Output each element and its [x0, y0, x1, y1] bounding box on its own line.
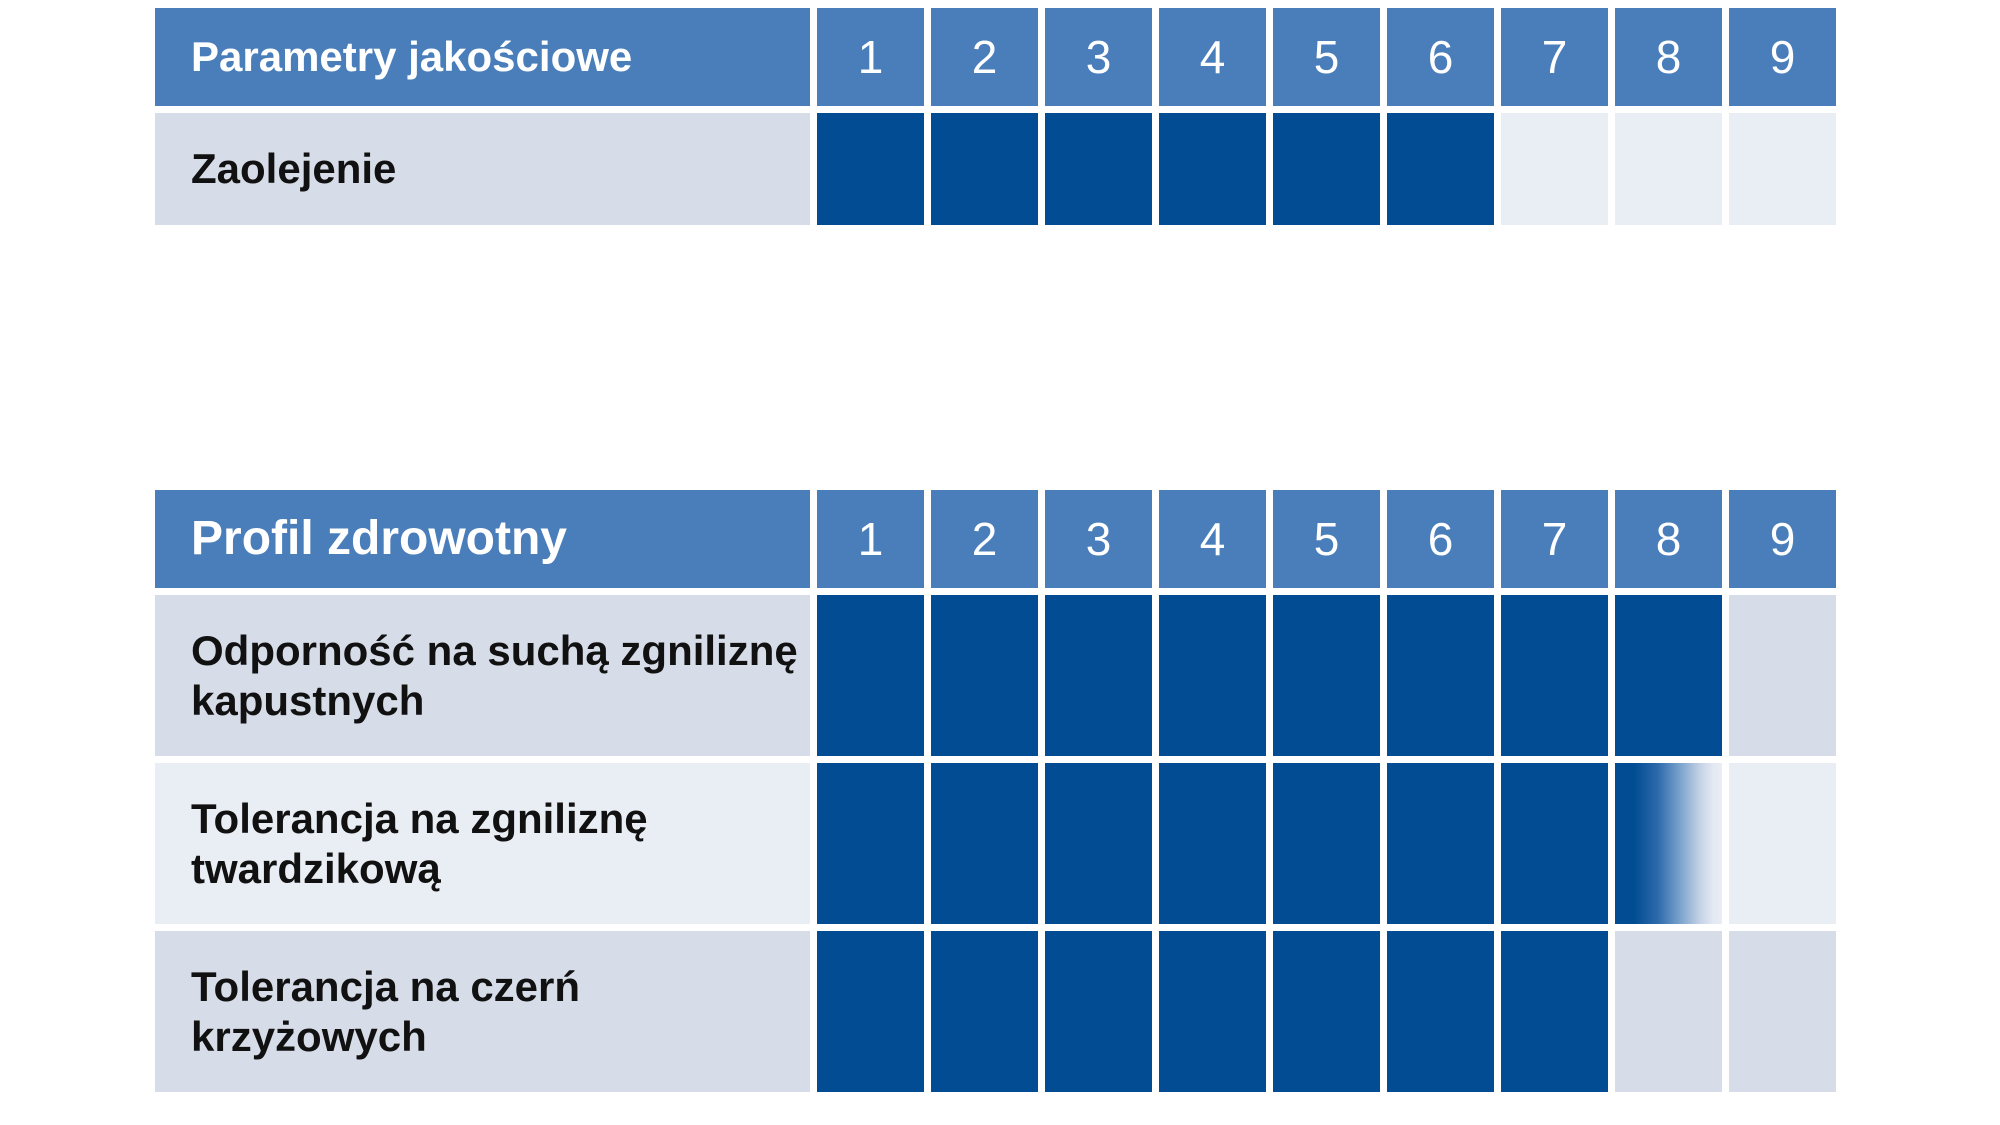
column-gutter — [1152, 113, 1159, 225]
rating-cell-9 — [1729, 931, 1836, 1092]
column-gutter — [924, 763, 931, 924]
rating-cell-1 — [817, 113, 924, 225]
rating-cell-2 — [931, 113, 1038, 225]
rating-cell-2 — [931, 595, 1038, 756]
rating-cell-6 — [1387, 595, 1494, 756]
row-gutter — [155, 924, 1845, 931]
column-gutter — [1722, 490, 1729, 588]
quality-scale-header-9: 9 — [1729, 8, 1836, 106]
column-gutter — [1494, 8, 1501, 106]
column-gutter — [1152, 595, 1159, 756]
rating-cell-5 — [1273, 113, 1380, 225]
rating-cell-8 — [1615, 595, 1722, 756]
column-gutter — [810, 763, 817, 924]
rating-cell-9 — [1729, 763, 1836, 924]
quality-parameters-table: Parametry jakościowe 1 2 3 4 5 6 7 8 9 Z… — [155, 8, 1845, 225]
quality-scale-header-6: 6 — [1387, 8, 1494, 106]
column-gutter — [1380, 490, 1387, 588]
rating-cell-9 — [1729, 113, 1836, 225]
quality-scale-header-2: 2 — [931, 8, 1038, 106]
quality-table-title: Parametry jakościowe — [155, 8, 810, 106]
table-row: Zaolejenie — [155, 113, 1845, 225]
column-gutter — [1722, 595, 1729, 756]
quality-scale-header-8: 8 — [1615, 8, 1722, 106]
quality-scale-header-3: 3 — [1045, 8, 1152, 106]
quality-row-label-zaolejenie: Zaolejenie — [155, 113, 810, 225]
quality-table-header-row: Parametry jakościowe 1 2 3 4 5 6 7 8 9 — [155, 8, 1845, 106]
quality-scale-header-1: 1 — [817, 8, 924, 106]
column-gutter — [924, 595, 931, 756]
column-gutter — [1266, 595, 1273, 756]
rating-cell-1 — [817, 763, 924, 924]
column-gutter — [1152, 931, 1159, 1092]
column-gutter — [1608, 113, 1615, 225]
rating-cell-3 — [1045, 595, 1152, 756]
column-gutter — [1722, 8, 1729, 106]
column-gutter — [1380, 931, 1387, 1092]
column-gutter — [1380, 8, 1387, 106]
rating-cell-6 — [1387, 763, 1494, 924]
rating-cell-8 — [1615, 113, 1722, 225]
column-gutter — [1038, 8, 1045, 106]
column-gutter — [1494, 763, 1501, 924]
health-profile-table: Profil zdrowotny 1 2 3 4 5 6 7 8 9 Odpor… — [155, 490, 1845, 1092]
table-row: Tolerancja na zgniliznę twardzikową — [155, 763, 1845, 924]
quality-scale-header-7: 7 — [1501, 8, 1608, 106]
health-scale-header-2: 2 — [931, 490, 1038, 588]
rating-cell-7 — [1501, 931, 1608, 1092]
row-gutter — [155, 588, 1845, 595]
quality-scale-header-5: 5 — [1273, 8, 1380, 106]
column-gutter — [1608, 763, 1615, 924]
slide-canvas: Parametry jakościowe 1 2 3 4 5 6 7 8 9 Z… — [0, 0, 2000, 1125]
column-gutter — [1038, 113, 1045, 225]
column-gutter — [1380, 763, 1387, 924]
health-table-title: Profil zdrowotny — [155, 490, 810, 588]
column-gutter — [1608, 595, 1615, 756]
column-gutter — [1608, 8, 1615, 106]
rating-cell-8 — [1615, 931, 1722, 1092]
rating-cell-4 — [1159, 931, 1266, 1092]
table-row: Odporność na suchą zgniliznę kapustnych — [155, 595, 1845, 756]
column-gutter — [1380, 595, 1387, 756]
column-gutter — [1152, 763, 1159, 924]
column-gutter — [1608, 931, 1615, 1092]
health-scale-header-9: 9 — [1729, 490, 1836, 588]
column-gutter — [1494, 490, 1501, 588]
column-gutter — [1722, 763, 1729, 924]
column-gutter — [1038, 931, 1045, 1092]
rating-cell-7 — [1501, 113, 1608, 225]
health-scale-header-8: 8 — [1615, 490, 1722, 588]
column-gutter — [1494, 595, 1501, 756]
health-row-label-sclerotinia-tolerance: Tolerancja na zgniliznę twardzikową — [155, 763, 810, 924]
column-gutter — [924, 490, 931, 588]
column-gutter — [810, 490, 817, 588]
column-gutter — [1494, 931, 1501, 1092]
column-gutter — [1722, 931, 1729, 1092]
rating-cell-4 — [1159, 763, 1266, 924]
health-scale-header-3: 3 — [1045, 490, 1152, 588]
column-gutter — [1608, 490, 1615, 588]
column-gutter — [1038, 595, 1045, 756]
rating-cell-6 — [1387, 113, 1494, 225]
table-row: Tolerancja na czerń krzyżowych — [155, 931, 1845, 1092]
column-gutter — [1266, 113, 1273, 225]
column-gutter — [924, 931, 931, 1092]
health-scale-header-5: 5 — [1273, 490, 1380, 588]
health-scale-header-6: 6 — [1387, 490, 1494, 588]
column-gutter — [1266, 931, 1273, 1092]
rating-cell-1 — [817, 931, 924, 1092]
column-gutter — [1494, 113, 1501, 225]
health-row-label-dry-rot-resistance: Odporność na suchą zgniliznę kapustnych — [155, 595, 810, 756]
row-gutter — [155, 106, 1845, 113]
quality-scale-header-4: 4 — [1159, 8, 1266, 106]
column-gutter — [924, 113, 931, 225]
column-gutter — [1152, 8, 1159, 106]
rating-cell-3 — [1045, 931, 1152, 1092]
rating-cell-4 — [1159, 595, 1266, 756]
column-gutter — [810, 8, 817, 106]
rating-cell-4 — [1159, 113, 1266, 225]
rating-cell-7 — [1501, 763, 1608, 924]
rating-cell-5 — [1273, 595, 1380, 756]
column-gutter — [1722, 113, 1729, 225]
rating-cell-6 — [1387, 931, 1494, 1092]
rating-cell-2 — [931, 763, 1038, 924]
rating-cell-3 — [1045, 113, 1152, 225]
column-gutter — [1266, 490, 1273, 588]
rating-cell-8-gradient — [1615, 763, 1722, 924]
health-row-label-alternaria-tolerance: Tolerancja na czerń krzyżowych — [155, 931, 810, 1092]
rating-cell-5 — [1273, 931, 1380, 1092]
column-gutter — [1380, 113, 1387, 225]
column-gutter — [924, 8, 931, 106]
rating-cell-5 — [1273, 763, 1380, 924]
rating-cell-3 — [1045, 763, 1152, 924]
rating-cell-9 — [1729, 595, 1836, 756]
column-gutter — [1038, 490, 1045, 588]
column-gutter — [1152, 490, 1159, 588]
column-gutter — [810, 595, 817, 756]
rating-cell-7 — [1501, 595, 1608, 756]
column-gutter — [1038, 763, 1045, 924]
column-gutter — [810, 931, 817, 1092]
health-table-header-row: Profil zdrowotny 1 2 3 4 5 6 7 8 9 — [155, 490, 1845, 588]
column-gutter — [1266, 8, 1273, 106]
row-gutter — [155, 756, 1845, 763]
rating-cell-1 — [817, 595, 924, 756]
column-gutter — [1266, 763, 1273, 924]
rating-cell-2 — [931, 931, 1038, 1092]
health-scale-header-4: 4 — [1159, 490, 1266, 588]
column-gutter — [810, 113, 817, 225]
health-scale-header-7: 7 — [1501, 490, 1608, 588]
health-scale-header-1: 1 — [817, 490, 924, 588]
